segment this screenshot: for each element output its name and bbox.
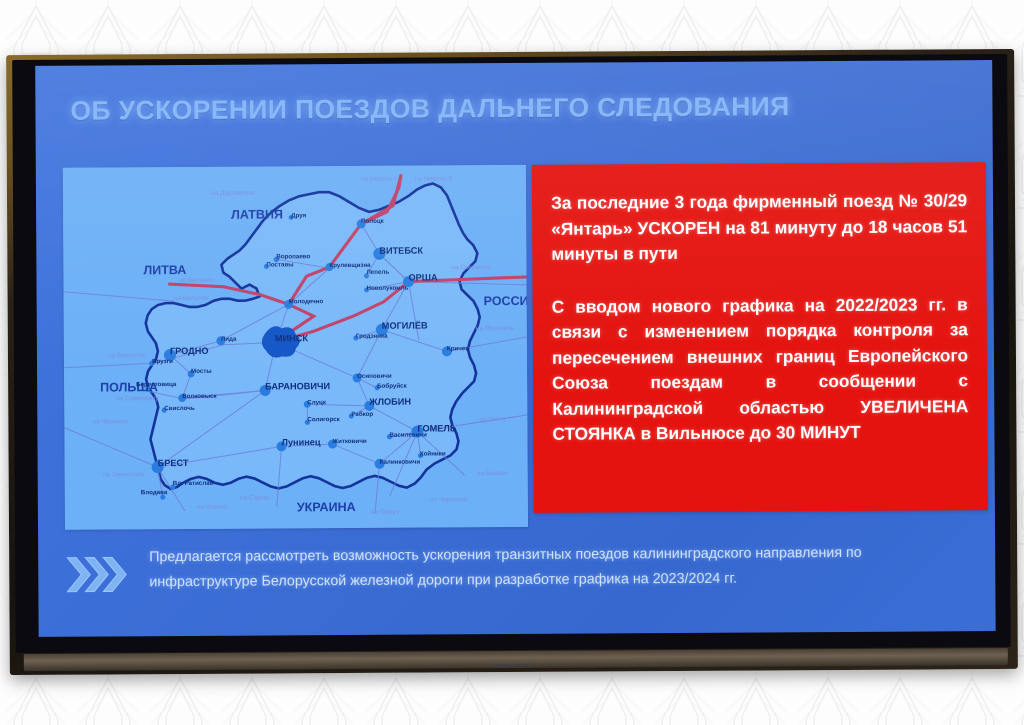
map-direction-label: на Чернигов: [430, 496, 468, 503]
map-direction-label: на Невель I: [361, 176, 397, 183]
map-direction-label: на Рославль: [476, 325, 515, 332]
map-city-label-minor: Мосты: [191, 368, 212, 375]
map-direction-label: на Даугавпилс: [211, 190, 256, 197]
map-city-label-major: ГРОДНО: [170, 346, 209, 356]
bottom-note: Предлагается рассмотреть возможность уск…: [65, 540, 965, 600]
map-direction-label: на Невель II: [415, 175, 452, 182]
presentation-slide: ОБ УСКОРЕНИИ ПОЕЗДОВ ДАЛЬНЕГО СЛЕДОВАНИЯ: [35, 60, 995, 637]
map-city-label-minor: Осиповичи: [357, 373, 392, 380]
map-city-label-minor: Свислочь: [164, 405, 195, 412]
map-city-label-minor: Брузги: [152, 358, 173, 365]
map-city-label-major: МИНСК: [275, 333, 309, 343]
map-city-label-minor: Друя: [291, 212, 307, 219]
map-direction-label: на Вильнюс: [178, 277, 215, 284]
map-direction-label: на Унечу: [479, 416, 507, 423]
map-direction-label: на Белосток: [108, 352, 145, 359]
map-direction-label: на Смоленск: [451, 264, 490, 271]
map-direction-label: на Ковель: [197, 504, 228, 511]
map-city-label-minor: Житковичи: [331, 438, 366, 445]
television-display: HORIZONT ОБ УСКОРЕНИИ ПОЕЗДОВ ДАЛЬНЕГО С…: [6, 49, 1018, 675]
map-country-label: ЛИТВА: [143, 263, 186, 277]
map-city-label-minor: Берестовица: [136, 381, 177, 388]
map-city-label-minor: Калинковичи: [380, 459, 421, 466]
map-city-label-minor: Гродзянка: [356, 333, 388, 340]
map-country-label: РОССИЯ: [484, 294, 528, 308]
map-city-label-minor: Крулевщизна: [329, 262, 371, 269]
map-direction-label: на Черемху: [92, 418, 128, 425]
map-city-label-minor: Лида: [221, 336, 237, 343]
map-direction-label: на Овруч: [371, 509, 399, 516]
bottom-note-text: Предлагается рассмотреть возможность уск…: [149, 540, 965, 595]
page-title: ОБ УСКОРЕНИИ ПОЕЗДОВ ДАЛЬНЕГО СЛЕДОВАНИЯ: [70, 91, 789, 126]
triple-chevron-right-icon: [65, 553, 131, 600]
map-city-label-minor: Бобруйск: [377, 383, 407, 390]
map-city-label-minor: Лепель: [366, 269, 389, 276]
map-city-label-major: ВИТЕБСК: [379, 246, 423, 256]
belarus-railway-map: ЛАТВИЯЛИТВАПОЛЬШАРОССИЯУКРАИНАМИНСКВИТЕБ…: [63, 165, 528, 530]
highlight-info-box: За последние 3 года фирменный поезд № 30…: [532, 162, 988, 513]
map-direction-label: на Семенувку: [116, 395, 159, 402]
map-country-label: ЛАТВИЯ: [231, 207, 283, 221]
map-city-label-minor: Воропаево: [276, 253, 310, 260]
map-city-label-minor: Полоцк: [361, 218, 385, 225]
map-city-label-minor: Волковыск: [182, 393, 217, 400]
map-city-label-minor: Солигорск: [307, 416, 340, 423]
map-city-label-minor: Слуцк: [307, 399, 327, 406]
map-svg: ЛАТВИЯЛИТВАПОЛЬШАРОССИЯУКРАИНАМИНСКВИТЕБ…: [63, 165, 528, 530]
map-city-label-minor: Влодава: [141, 489, 168, 496]
map-city-label-minor: Кричев: [447, 345, 469, 352]
map-city-label-major: БРЕСТ: [158, 458, 189, 468]
map-city-label-minor: Новолукомль: [367, 285, 409, 292]
map-city-label-major: БАРАНОВИЧИ: [265, 381, 330, 391]
map-direction-label: на Сарны: [240, 494, 270, 501]
map-direction-label: на Вильнюс: [174, 295, 211, 302]
map-country-label: УКРАИНА: [297, 500, 356, 514]
map-city-label-major: ЖЛОБИН: [368, 397, 411, 407]
redbox-paragraph-2: С вводом нового графика на 2022/2023 гг.…: [552, 292, 969, 448]
map-direction-label: на Бахмач: [477, 470, 509, 477]
map-city-label-minor: Рабкор: [351, 411, 373, 418]
map-city-label-major: Лунинец: [281, 437, 320, 447]
map-city-label-minor: Хойники: [420, 450, 446, 457]
map-city-label-minor: Вл. Ратислав: [173, 480, 214, 487]
redbox-paragraph-1: За последние 3 года фирменный поезд № 30…: [551, 188, 967, 267]
map-city-label-major: ОРША: [408, 272, 438, 282]
map-city-label-minor: Молодечно: [289, 298, 324, 305]
map-city-label-minor: Поставы: [266, 261, 293, 268]
map-city-label-major: МОГИЛЁВ: [382, 321, 428, 331]
map-city-label-minor: Василевичи: [389, 432, 427, 439]
map-direction-label: на Тересполь: [103, 471, 145, 478]
